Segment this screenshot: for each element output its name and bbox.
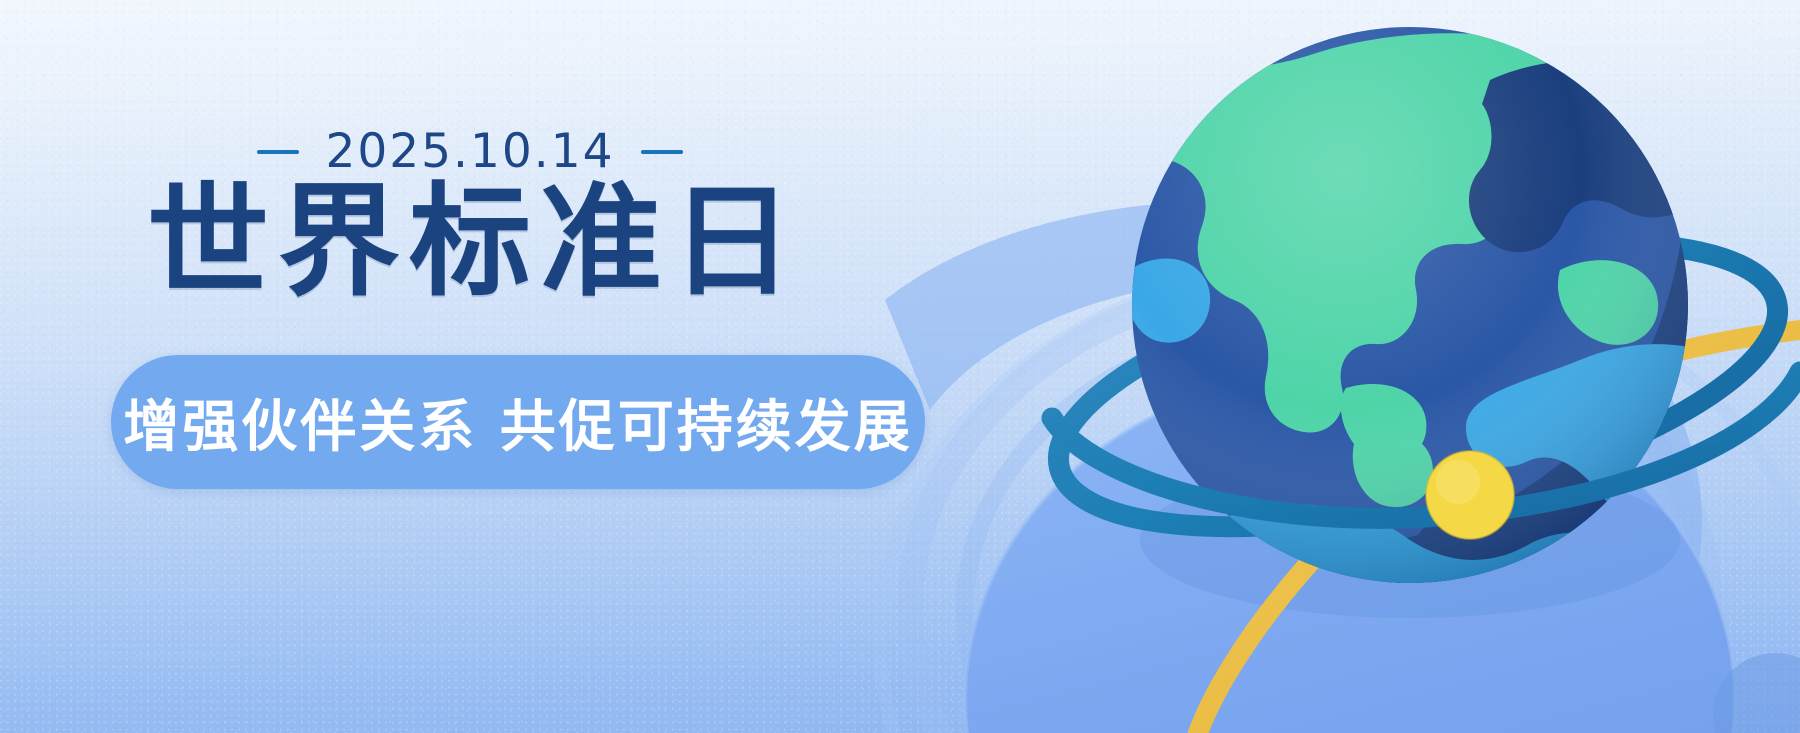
text-content: 2025.10.14 世界标准日 增强伙伴关系 共促可持续发展 [0,0,980,733]
page-title: 世界标准日 [120,178,820,307]
left-dash-icon [257,150,299,154]
world-standards-day-banner: 2025.10.14 世界标准日 增强伙伴关系 共促可持续发展 [0,0,1800,733]
yellow-orbit-dot [1426,451,1514,539]
subtitle-text: 增强伙伴关系 共促可持续发展 [123,382,913,463]
right-dash-icon [641,150,683,154]
subtitle-pill: 增强伙伴关系 共促可持续发展 [111,355,925,489]
